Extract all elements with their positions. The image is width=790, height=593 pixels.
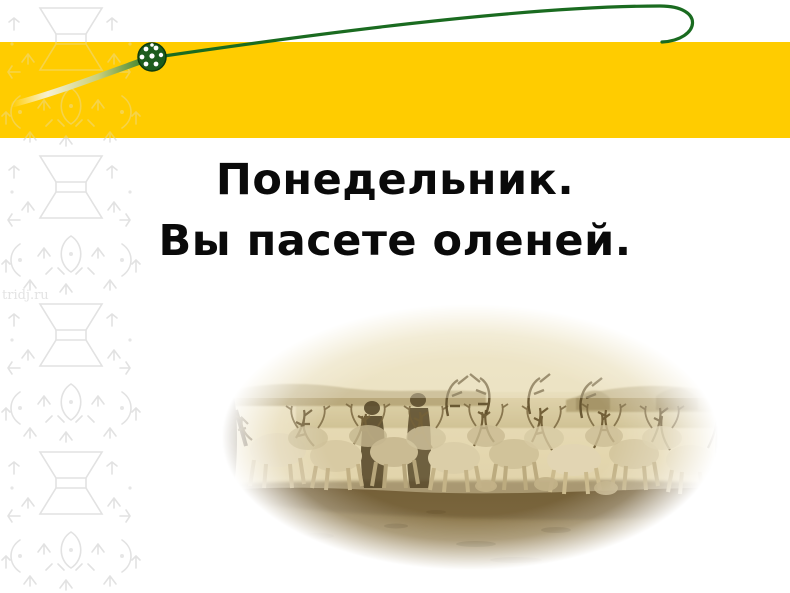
headline-line-1: Понедельник. (0, 150, 790, 210)
banner-ornament-overlay (0, 42, 142, 138)
ornament-pattern-overlay-icon (0, 42, 142, 138)
slide-root: tridj.ru Понедельник. Вы пасете оленей. (0, 0, 790, 593)
headline-line-2: Вы пасете оленей. (0, 210, 790, 272)
yellow-banner (0, 42, 790, 138)
reindeer-photo-image (186, 288, 754, 586)
headline-block: Понедельник. Вы пасете оленей. (0, 150, 790, 272)
watermark: tridj.ru (2, 288, 49, 303)
reindeer-photo-frame (186, 288, 754, 586)
reindeer-photo (186, 288, 754, 586)
